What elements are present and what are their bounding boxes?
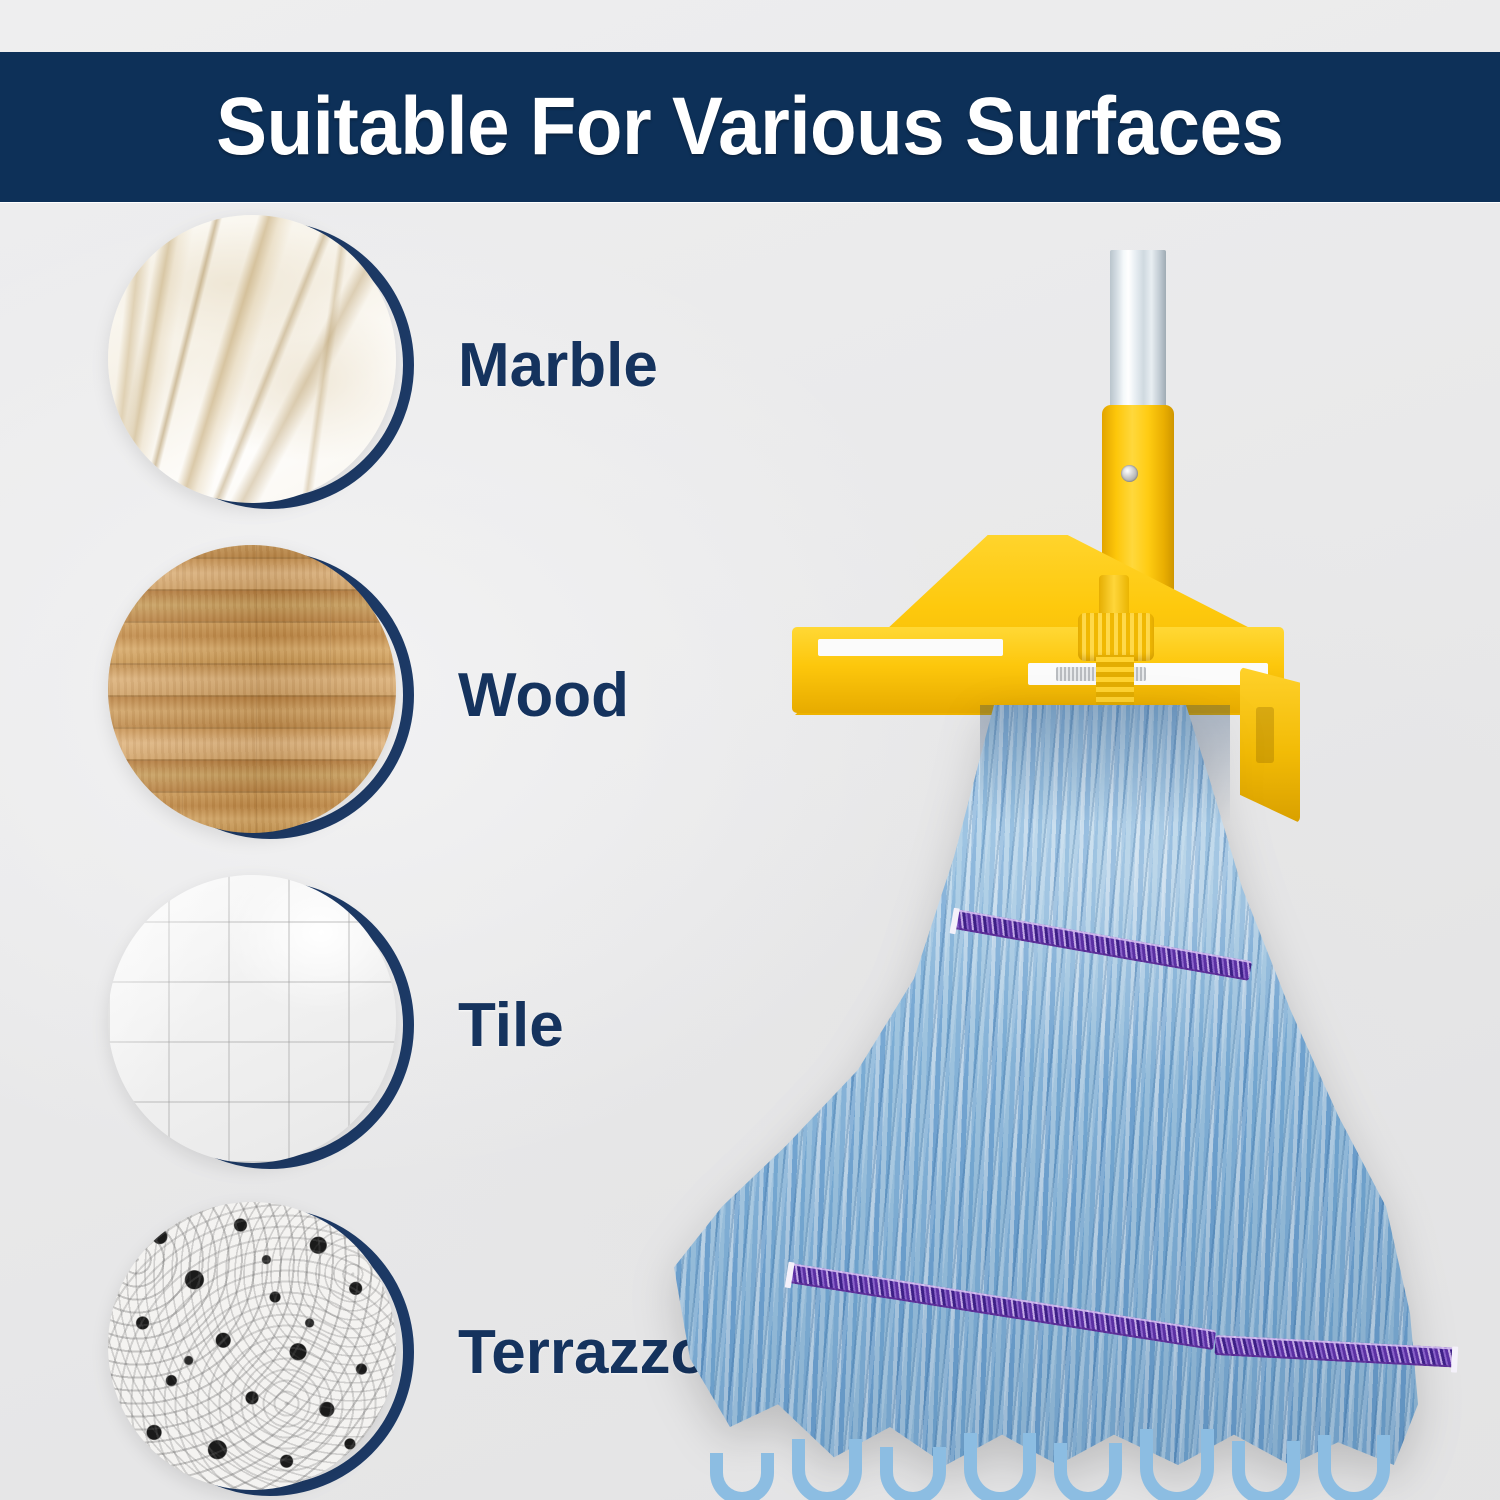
yarn-loop (1054, 1443, 1122, 1500)
yarn-loop (964, 1433, 1036, 1500)
clamp-slot-lower (1028, 663, 1268, 685)
clamp-slot-upper (818, 639, 1003, 656)
yarn-top-shadow (980, 705, 1230, 825)
thumb-screw-thread (1096, 655, 1134, 707)
page-title: Suitable For Various Surfaces (216, 86, 1283, 168)
product-image-mop (640, 215, 1500, 1500)
surface-label-tile: Tile (458, 875, 564, 1175)
surface-label-wood: Wood (458, 545, 629, 845)
tile-swatch-wrap (108, 875, 408, 1175)
terrazzo-swatch-image (108, 1202, 396, 1490)
wood-swatch-image (108, 545, 396, 833)
wood-swatch-wrap (108, 545, 408, 845)
tile-swatch-image (108, 875, 396, 1163)
marble-swatch-wrap (108, 215, 408, 515)
marble-swatch-image (108, 215, 396, 503)
surface-label-marble: Marble (458, 215, 658, 515)
metal-rivet (1121, 465, 1138, 482)
terrazzo-swatch-wrap (108, 1202, 408, 1500)
yarn-loop (710, 1453, 774, 1500)
yarn-loop (1318, 1435, 1390, 1500)
yarn-loop (792, 1439, 862, 1500)
looped-yarn-ends (680, 1395, 1440, 1500)
knurled-thumb-screw (1078, 613, 1154, 661)
header-banner: Suitable For Various Surfaces (0, 52, 1500, 202)
band-tie (1451, 1346, 1458, 1372)
yarn-loop (1140, 1429, 1214, 1500)
yarn-loop (880, 1447, 946, 1500)
yarn-loop (1232, 1441, 1300, 1500)
